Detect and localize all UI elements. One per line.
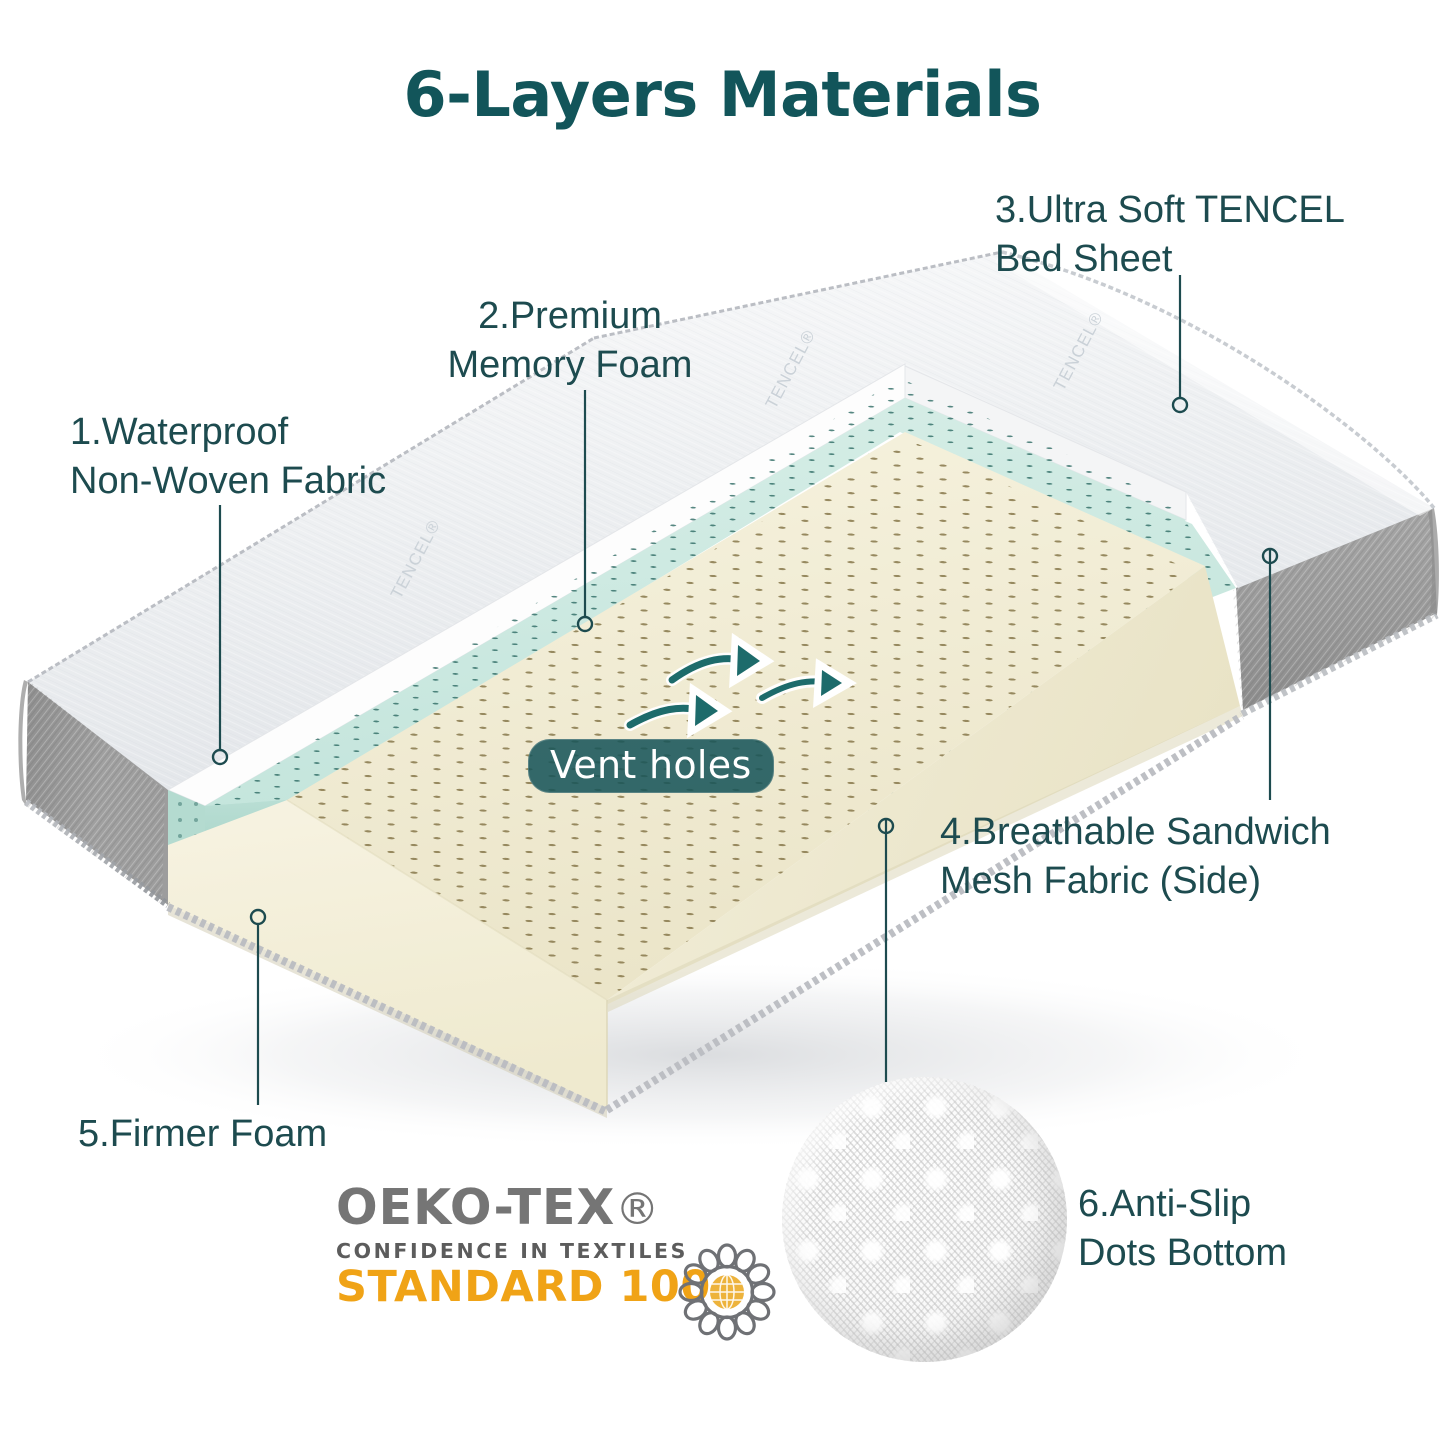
oeko-tex-wordmark: OEKO-TEX — [336, 1179, 615, 1236]
vent-holes-badge: Vent holes — [528, 739, 774, 793]
infographic-canvas: 6-Layers Materials — [0, 0, 1445, 1445]
flower-globe-icon — [674, 1239, 780, 1345]
oeko-tex-brand: OEKO-TEX® — [336, 1183, 756, 1232]
label-firmer-foam: 5.Firmer Foam — [78, 1110, 327, 1159]
anti-slip-dots-closeup — [782, 1077, 1067, 1362]
registered-trademark-icon: ® — [615, 1184, 660, 1235]
label-breathable-sandwich-mesh-fabric: 4.Breathable Sandwich Mesh Fabric (Side) — [940, 808, 1331, 905]
label-ultra-soft-tencel-bed-sheet: 3.Ultra Soft TENCEL Bed Sheet — [995, 186, 1345, 283]
sphere-shading — [782, 1077, 1067, 1362]
label-premium-memory-foam: 2.Premium Memory Foam — [420, 292, 720, 389]
label-waterproof-non-woven-fabric: 1.Waterproof Non-Woven Fabric — [70, 408, 386, 505]
label-anti-slip-dots-bottom: 6.Anti-Slip Dots Bottom — [1078, 1180, 1287, 1277]
oeko-tex-certification: OEKO-TEX® CONFIDENCE IN TEXTILES STANDAR… — [336, 1183, 756, 1309]
